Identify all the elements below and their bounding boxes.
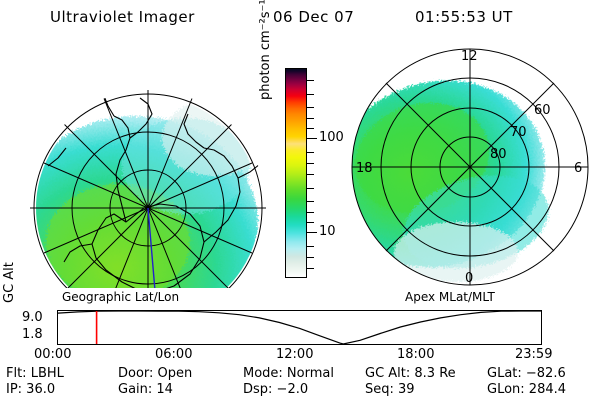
colorbar-tick-minor (307, 201, 314, 202)
colorbar-tick-minor (307, 188, 314, 189)
ip-status: IP: 36.0 (6, 382, 55, 397)
header-bar: Ultraviolet Imager 06 Dec 07 01:55:53 UT (0, 8, 600, 30)
colorbar-label-100: 100 (319, 130, 344, 145)
xtick-1200: 12:00 (276, 347, 313, 362)
gcalt-timeseries-plot[interactable] (57, 310, 542, 345)
gain-status: Gain: 14 (118, 382, 173, 397)
colorbar-axis-label: photon cm⁻²s⁻¹ (258, 0, 273, 100)
xtick-1800: 18:00 (397, 347, 434, 362)
geographic-polar-plot[interactable] (18, 46, 280, 288)
xtick-0600: 06:00 (155, 347, 192, 362)
mlt-label-6: 6 (574, 161, 582, 176)
dsp-status: Dsp: −2.0 (243, 382, 308, 397)
apex-graticule (352, 49, 588, 285)
mlt-label-18: 18 (356, 161, 373, 176)
colorbar-tick-10 (307, 232, 317, 233)
xtick-2359: 23:59 (515, 347, 552, 362)
colorbar-tick-minor (307, 94, 314, 95)
colorbar-tick-minor (307, 212, 314, 213)
colorbar-tick-minor (307, 163, 314, 164)
colorbar-tick-minor (307, 257, 314, 258)
colorbar (285, 68, 307, 278)
filter-status: Flt: LBHL (6, 366, 64, 381)
colorbar-tick-minor (307, 107, 314, 108)
gcalt-ytick-low: 1.8 (22, 327, 43, 342)
colorbar-tick-minor (307, 222, 314, 223)
mode-status: Mode: Normal (243, 366, 334, 381)
xtick-0000: 00:00 (34, 347, 71, 362)
gcalt-curve (58, 311, 541, 344)
seq-status: Seq: 39 (365, 382, 415, 397)
glon-status: GLon: 284.4 (487, 382, 566, 397)
colorbar-tick-minor (307, 80, 314, 81)
colorbar-tick-minor (307, 268, 314, 269)
observation-date: 06 Dec 07 (273, 8, 354, 26)
door-status: Door: Open (118, 366, 192, 381)
mlat-label-70: 70 (510, 125, 527, 140)
right-panel-caption: Apex MLat/MLT (405, 290, 495, 304)
gcalt-axis-label: GC Alt (2, 262, 17, 303)
colorbar-label-10: 10 (319, 224, 336, 239)
colorbar-tick-minor (307, 174, 314, 175)
glat-status: GLat: −82.6 (487, 366, 566, 381)
colorbar-tick-minor (307, 128, 314, 129)
apex-polar-plot[interactable]: 12 18 6 0 60 70 80 (348, 46, 592, 288)
colorbar-tick-minor (307, 152, 314, 153)
colorbar-tick-minor (307, 118, 314, 119)
colorbar-tick-100 (307, 138, 317, 139)
colorbar-tick-minor (307, 246, 314, 247)
observation-time: 01:55:53 UT (415, 8, 513, 26)
colorbar-gradient (285, 68, 307, 278)
mlt-label-0: 0 (465, 271, 473, 286)
mlt-label-12: 12 (461, 49, 478, 64)
instrument-title: Ultraviolet Imager (50, 8, 195, 26)
gcalt-status: GC Alt: 8.3 Re (365, 366, 456, 381)
left-panel-caption: Geographic Lat/Lon (62, 290, 179, 304)
mlat-label-80: 80 (490, 147, 507, 162)
mlat-label-60: 60 (534, 103, 551, 118)
gcalt-ytick-high: 9.0 (22, 310, 43, 325)
